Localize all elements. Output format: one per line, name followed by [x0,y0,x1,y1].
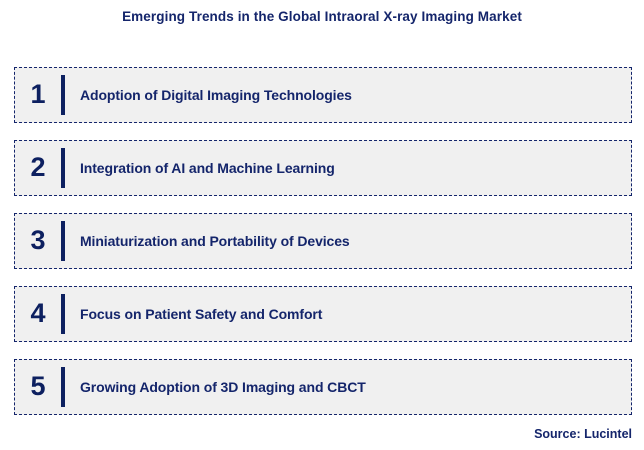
trend-number: 5 [15,373,61,402]
page-title: Emerging Trends in the Global Intraoral … [0,9,644,24]
trend-row: 4 Focus on Patient Safety and Comfort [14,286,632,342]
infographic-page: Emerging Trends in the Global Intraoral … [0,0,644,450]
trend-row: 5 Growing Adoption of 3D Imaging and CBC… [14,359,632,415]
trend-label: Focus on Patient Safety and Comfort [65,306,322,322]
trend-list: 1 Adoption of Digital Imaging Technologi… [14,67,632,415]
trend-label: Adoption of Digital Imaging Technologies [65,87,352,103]
trend-label: Miniaturization and Portability of Devic… [65,233,350,249]
trend-number: 1 [15,81,61,110]
trend-label: Growing Adoption of 3D Imaging and CBCT [65,379,366,395]
trend-number: 3 [15,227,61,256]
source-attribution: Source: Lucintel [0,427,632,441]
trend-row: 2 Integration of AI and Machine Learning [14,140,632,196]
trend-number: 2 [15,154,61,183]
trend-label: Integration of AI and Machine Learning [65,160,335,176]
trend-row: 1 Adoption of Digital Imaging Technologi… [14,67,632,123]
trend-number: 4 [15,300,61,329]
trend-row: 3 Miniaturization and Portability of Dev… [14,213,632,269]
